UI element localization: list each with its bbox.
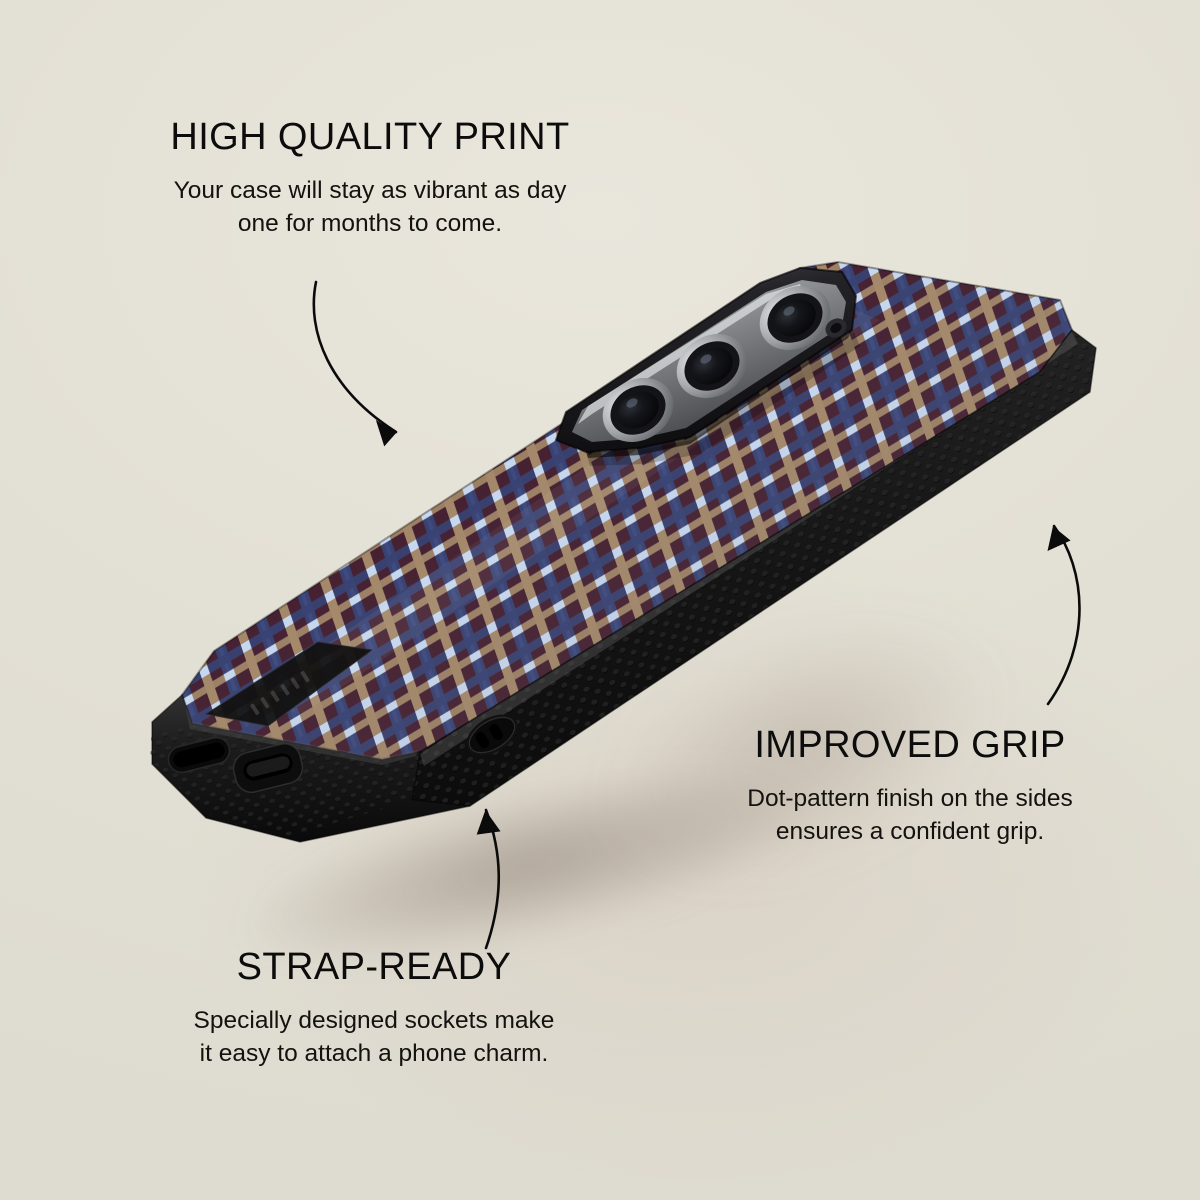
feature-desc-line-1: Specially designed sockets make — [104, 1005, 644, 1038]
arrow-to-print-feature — [290, 262, 440, 462]
feature-desc-line-1: Your case will stay as vibrant as day — [60, 175, 680, 208]
feature-title: IMPROVED GRIP — [660, 726, 1160, 764]
feature-description: Specially designed sockets make it easy … — [104, 1005, 644, 1070]
feature-desc-line-2: one for months to come. — [60, 208, 680, 241]
arrow-to-strap-feature — [432, 782, 552, 962]
feature-improved-grip: IMPROVED GRIP Dot-pattern finish on the … — [660, 726, 1160, 848]
feature-desc-line-1: Dot-pattern finish on the sides — [660, 783, 1160, 816]
feature-desc-line-2: ensures a confident grip. — [660, 816, 1160, 849]
arrow-to-grip-feature — [1000, 492, 1130, 722]
product-feature-graphic: HIGH QUALITY PRINT Your case will stay a… — [0, 0, 1200, 1200]
feature-desc-line-2: it easy to attach a phone charm. — [104, 1038, 644, 1071]
feature-high-quality-print: HIGH QUALITY PRINT Your case will stay a… — [60, 118, 680, 240]
feature-description: Dot-pattern finish on the sides ensures … — [660, 783, 1160, 848]
feature-description: Your case will stay as vibrant as day on… — [60, 175, 680, 240]
feature-title: HIGH QUALITY PRINT — [60, 118, 680, 156]
feature-strap-ready: STRAP-READY Specially designed sockets m… — [104, 948, 644, 1070]
feature-title: STRAP-READY — [104, 948, 644, 986]
